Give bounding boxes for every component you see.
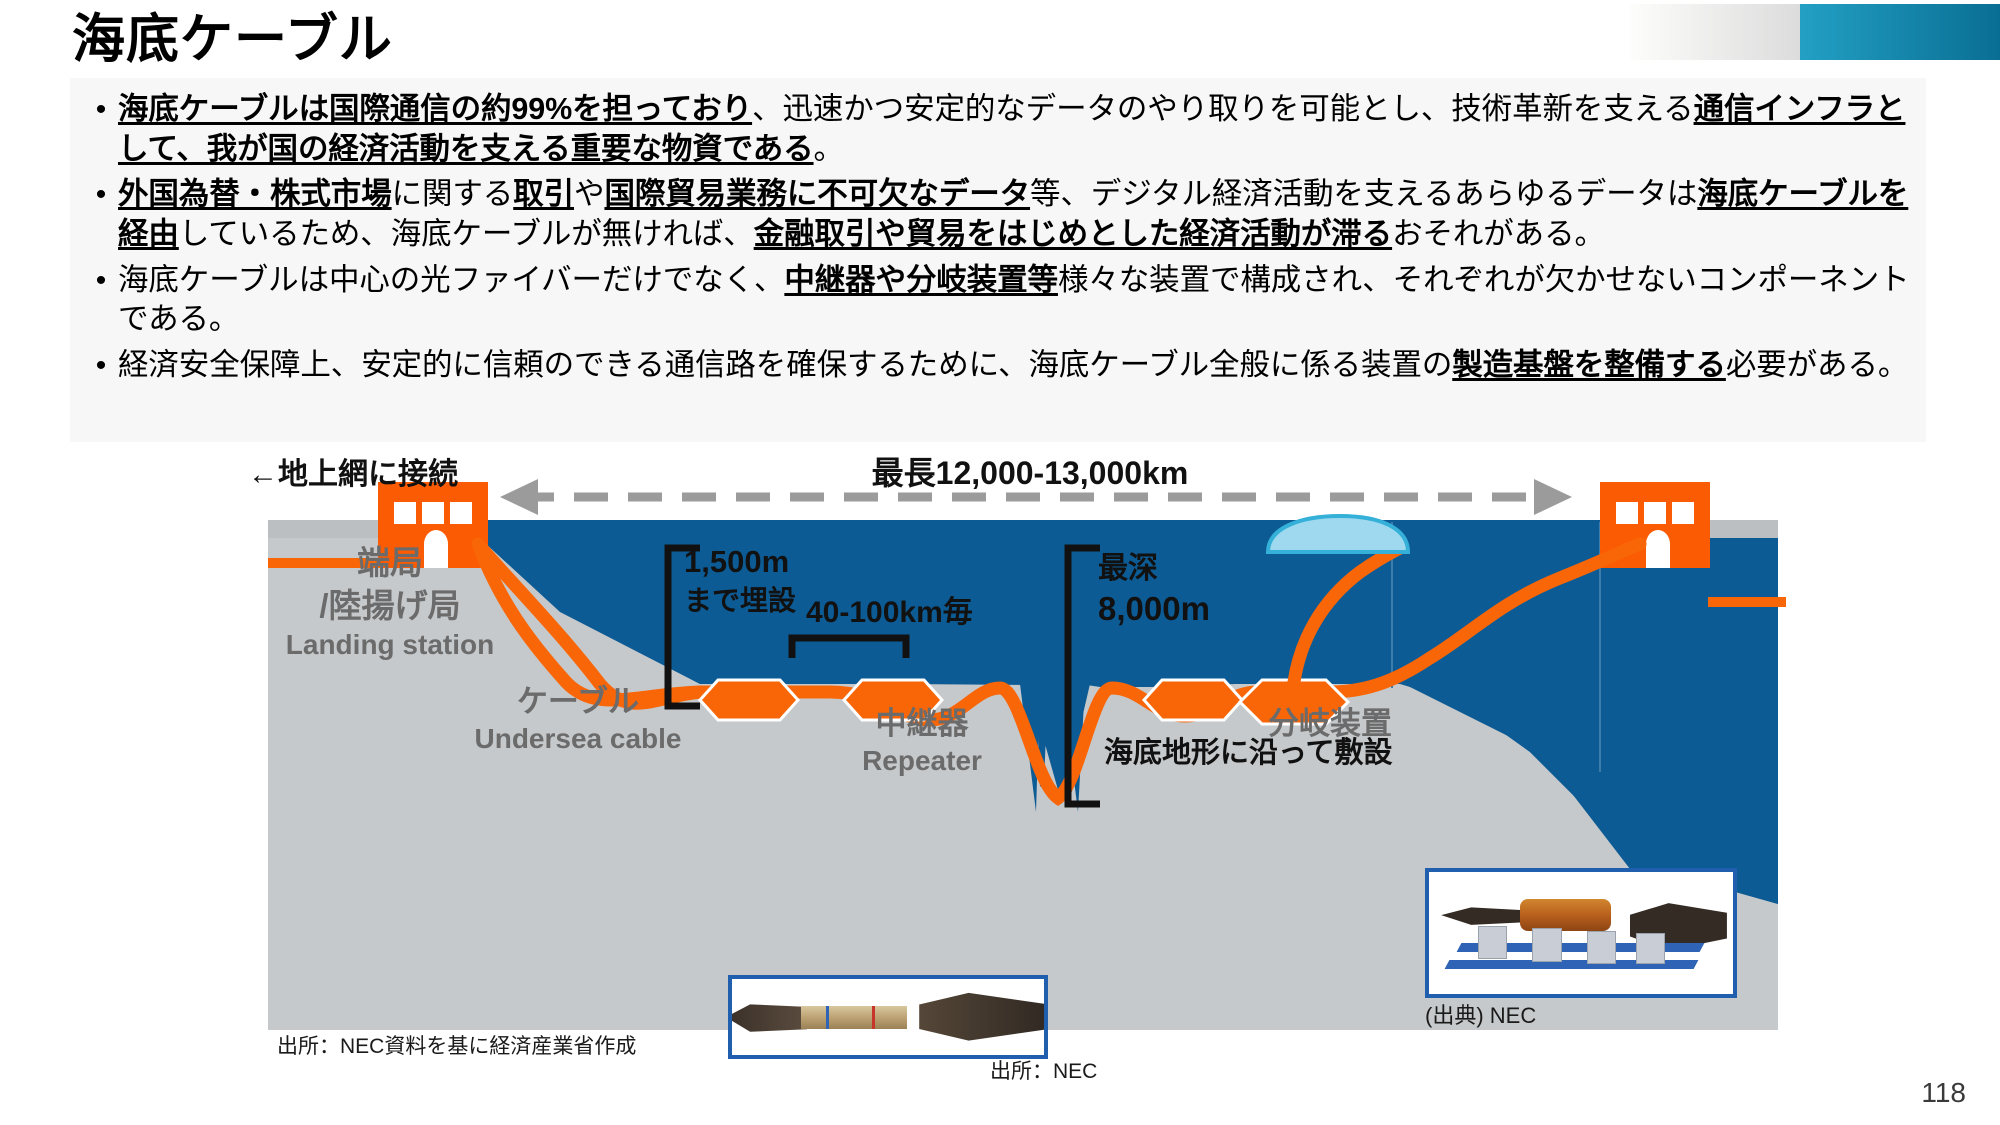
cable-label-en: Undersea cable <box>475 723 682 754</box>
repeater-cone-right <box>919 990 1048 1043</box>
bullet-item: • 海底ケーブルは中心の光ファイバーだけでなく、中継器や分岐装置等様々な装置で構… <box>84 261 1912 340</box>
bullet-item: • 経済安全保障上、安定的に信頼のできる通信路を確保するために、海底ケーブル全般… <box>84 346 1912 386</box>
bullet-plain: 等、デジタル経済活動を支えるあらゆるデータは <box>1030 177 1697 211</box>
header-decoration-bar <box>1630 4 2000 60</box>
bullet-item: • 外国為替・株式市場に関する取引や国際貿易業務に不可欠なデータ等、デジタル経済… <box>84 175 1912 254</box>
bullet-plain: しているため、海底ケーブルが無ければ、 <box>179 217 754 251</box>
bullet-marker: • <box>84 346 118 385</box>
decoration-gradient-light <box>1630 4 1800 60</box>
bullet-emphasis: 中継器や分岐装置等 <box>784 263 1058 297</box>
bullet-emphasis: 取引 <box>513 177 574 211</box>
repeater-1 <box>700 680 798 720</box>
repeater-3 <box>1144 680 1242 720</box>
bullet-text: 経済安全保障上、安定的に信頼のできる通信路を確保するために、海底ケーブル全般に係… <box>118 346 1912 386</box>
branching-unit-photo <box>1425 868 1737 998</box>
bullet-emphasis: 海底ケーブルは国際通信の約99%を担っており <box>118 92 752 126</box>
page-title: 海底ケーブル <box>72 8 393 72</box>
caption-left: 出所：NEC資料を基に経済産業省作成 <box>277 1030 636 1060</box>
bullet-item: • 海底ケーブルは国際通信の約99%を担っており、迅速かつ安定的なデータのやり取… <box>84 90 1912 169</box>
page-number: 118 <box>1921 1077 1966 1109</box>
bullet-plain: や <box>574 177 604 211</box>
landing-station-en: Landing station <box>286 629 494 660</box>
repeater-ring-blue <box>826 1006 829 1029</box>
repeater-photo-art <box>732 979 1044 1055</box>
bullet-marker: • <box>84 261 118 300</box>
landing-station-jp-line1: 端局 <box>357 544 423 581</box>
bullet-plain: に関する <box>392 177 514 211</box>
decoration-gradient-teal <box>1800 4 2000 60</box>
landing-station-jp-line2: /陸揚げ局 <box>319 587 460 624</box>
repeater-ring-red <box>872 1006 875 1029</box>
span-length-label: 最長12,000-13,000km <box>872 455 1189 491</box>
repeater-photo <box>728 975 1048 1059</box>
span-arrow-head-left <box>500 479 538 515</box>
repeater-label-en: Repeater <box>862 745 982 776</box>
max-depth-line1: 最深 <box>1098 552 1158 585</box>
branch-clamp-3 <box>1587 931 1616 965</box>
branch-clamp-4 <box>1636 933 1665 964</box>
branch-cone-left <box>1441 906 1520 926</box>
bullet-plain: 。 <box>814 132 844 166</box>
branch-copper-drum <box>1520 899 1611 931</box>
connect-to-terrestrial-note: ←地上網に接続 <box>248 457 458 491</box>
bullet-emphasis: 国際貿易業務に不可欠なデータ <box>604 177 1030 211</box>
caption-right: (出典) NEC <box>1425 998 1536 1030</box>
burial-depth-line1: 1,500m <box>684 544 789 579</box>
repeater-label-jp: 中継器 <box>876 706 970 741</box>
bullets-panel: • 海底ケーブルは国際通信の約99%を担っており、迅速かつ安定的なデータのやり取… <box>70 78 1926 442</box>
cable-label-jp: ケーブル <box>517 684 639 719</box>
burial-depth-line2: まで埋設 <box>684 584 797 616</box>
bullet-emphasis: 製造基盤を整備する <box>1452 348 1726 382</box>
caption-mid: 出所：NEC <box>990 1055 1097 1085</box>
bullet-plain: 経済安全保障上、安定的に信頼のできる通信路を確保するために、海底ケーブル全般に係… <box>118 348 1452 382</box>
span-arrow-head-right <box>1534 479 1572 515</box>
bullet-text: 海底ケーブルは国際通信の約99%を担っており、迅速かつ安定的なデータのやり取りを… <box>118 90 1912 169</box>
repeater-body <box>801 1006 907 1029</box>
bullet-text: 海底ケーブルは中心の光ファイバーだけでなく、中継器や分岐装置等様々な装置で構成さ… <box>118 261 1912 340</box>
bullet-emphasis: 外国為替・株式市場 <box>118 177 392 211</box>
bullet-plain: 海底ケーブルは中心の光ファイバーだけでなく、 <box>118 263 784 297</box>
bullet-plain: 、迅速かつ安定的なデータのやり取りを可能とし、技術革新を支える <box>752 92 1693 126</box>
branch-clamp-1 <box>1478 926 1507 960</box>
bullet-plain: おそれがある。 <box>1392 217 1605 251</box>
bullet-plain: 必要がある。 <box>1726 348 1908 382</box>
terrestrial-link-right <box>1708 597 1786 607</box>
repeater-spacing-label: 40-100km毎 <box>806 596 973 629</box>
repeater-cone-left <box>728 1002 807 1034</box>
bullet-marker: • <box>84 175 118 214</box>
bullet-emphasis: 金融取引や貿易をはじめとした経済活動が滞る <box>754 217 1392 251</box>
bullet-marker: • <box>84 90 118 129</box>
branching-unit-photo-art <box>1429 872 1733 994</box>
max-depth-line2: 8,000m <box>1098 590 1210 627</box>
branch-clamp-2 <box>1532 928 1561 962</box>
branching-unit-label-jp: 分岐装置 <box>1268 706 1392 741</box>
shore-strip-right <box>1700 520 1778 538</box>
bullet-text: 外国為替・株式市場に関する取引や国際貿易業務に不可欠なデータ等、デジタル経済活動… <box>118 175 1912 254</box>
